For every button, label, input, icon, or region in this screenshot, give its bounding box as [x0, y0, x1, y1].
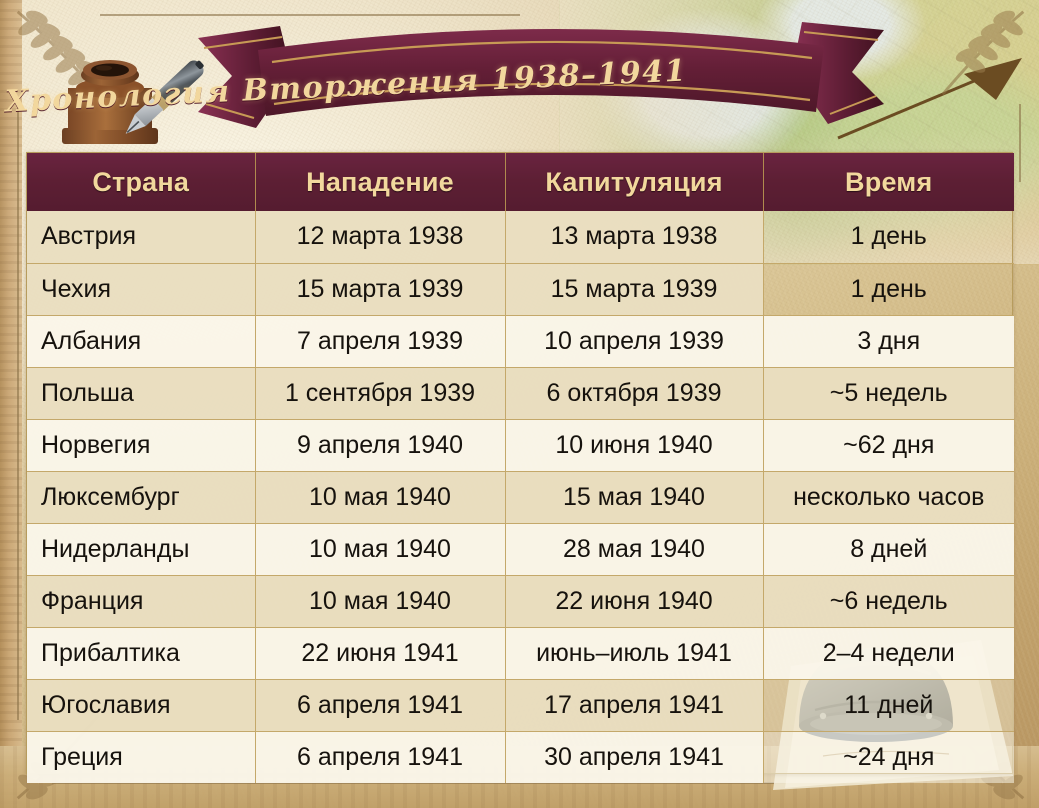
cell-attack: 9 апреля 1940	[255, 419, 505, 471]
cell-attack: 22 июня 1941	[255, 627, 505, 679]
cell-capitulation: 22 июня 1940	[505, 575, 763, 627]
laurel-branch-icon	[935, 6, 1031, 102]
cell-time: 1 день	[763, 211, 1014, 263]
cell-capitulation: 30 апреля 1941	[505, 731, 763, 783]
column-header-country[interactable]: Страна	[27, 153, 255, 211]
cell-country: Австрия	[27, 211, 255, 263]
table-row[interactable]: Албания 7 апреля 1939 10 апреля 1939 3 д…	[27, 315, 1014, 367]
cell-time: 8 дней	[763, 523, 1014, 575]
table-row[interactable]: Норвегия 9 апреля 1940 10 июня 1940 ~62 …	[27, 419, 1014, 471]
cell-country: Албания	[27, 315, 255, 367]
cell-time: ~5 недель	[763, 367, 1014, 419]
cell-country: Югославия	[27, 679, 255, 731]
frame-line-right	[1019, 104, 1021, 182]
chronology-table: Страна Нападение Капитуляция Время Австр…	[27, 153, 1014, 783]
cell-time: несколько часов	[763, 471, 1014, 523]
cell-capitulation: 6 октября 1939	[505, 367, 763, 419]
cell-country: Норвегия	[27, 419, 255, 471]
cell-time: 1 день	[763, 263, 1014, 315]
cell-country: Нидерланды	[27, 523, 255, 575]
column-header-time[interactable]: Время	[763, 153, 1014, 211]
table-row[interactable]: Нидерланды 10 мая 1940 28 мая 1940 8 дне…	[27, 523, 1014, 575]
table-row[interactable]: Люксембург 10 мая 1940 15 мая 1940 неско…	[27, 471, 1014, 523]
cell-attack: 6 апреля 1941	[255, 731, 505, 783]
cell-time: ~62 дня	[763, 419, 1014, 471]
cell-country: Польша	[27, 367, 255, 419]
frame-line-top	[100, 14, 520, 16]
cell-capitulation: 15 марта 1939	[505, 263, 763, 315]
table-body: Австрия 12 марта 1938 13 марта 1938 1 де…	[27, 211, 1014, 783]
table-row[interactable]: Чехия 15 марта 1939 15 марта 1939 1 день	[27, 263, 1014, 315]
cell-country: Чехия	[27, 263, 255, 315]
cell-country: Люксембург	[27, 471, 255, 523]
cell-capitulation: 10 июня 1940	[505, 419, 763, 471]
cell-attack: 12 марта 1938	[255, 211, 505, 263]
table-row[interactable]: Франция 10 мая 1940 22 июня 1940 ~6 неде…	[27, 575, 1014, 627]
cell-attack: 1 сентября 1939	[255, 367, 505, 419]
cell-attack: 15 марта 1939	[255, 263, 505, 315]
table-row[interactable]: Австрия 12 марта 1938 13 марта 1938 1 де…	[27, 211, 1014, 263]
frame-line-left	[17, 100, 19, 720]
cell-country: Франция	[27, 575, 255, 627]
cell-capitulation: 10 апреля 1939	[505, 315, 763, 367]
table-header: Страна Нападение Капитуляция Время	[27, 153, 1014, 211]
table-row[interactable]: Прибалтика 22 июня 1941 июнь–июль 1941 2…	[27, 627, 1014, 679]
poster-canvas: Хронология Вторжения 1938–1941	[0, 0, 1039, 808]
cell-capitulation: 17 апреля 1941	[505, 679, 763, 731]
cell-attack: 10 мая 1940	[255, 471, 505, 523]
table-row[interactable]: Польша 1 сентября 1939 6 октября 1939 ~5…	[27, 367, 1014, 419]
cell-time: ~24 дня	[763, 731, 1014, 783]
table-row[interactable]: Югославия 6 апреля 1941 17 апреля 1941 1…	[27, 679, 1014, 731]
cell-country: Греция	[27, 731, 255, 783]
table-row[interactable]: Греция 6 апреля 1941 30 апреля 1941 ~24 …	[27, 731, 1014, 783]
ribbon-banner	[196, 20, 886, 148]
chronology-table-container: Страна Нападение Капитуляция Время Австр…	[26, 152, 1013, 774]
column-header-capitulation[interactable]: Капитуляция	[505, 153, 763, 211]
cell-capitulation: 13 марта 1938	[505, 211, 763, 263]
cell-time: 11 дней	[763, 679, 1014, 731]
cell-capitulation: 15 мая 1940	[505, 471, 763, 523]
cell-attack: 7 апреля 1939	[255, 315, 505, 367]
cell-attack: 10 мая 1940	[255, 575, 505, 627]
cell-capitulation: 28 мая 1940	[505, 523, 763, 575]
cell-time: 3 дня	[763, 315, 1014, 367]
cell-attack: 10 мая 1940	[255, 523, 505, 575]
cell-time: ~6 недель	[763, 575, 1014, 627]
column-header-attack[interactable]: Нападение	[255, 153, 505, 211]
cell-attack: 6 апреля 1941	[255, 679, 505, 731]
cell-time: 2–4 недели	[763, 627, 1014, 679]
cell-capitulation: июнь–июль 1941	[505, 627, 763, 679]
cell-country: Прибалтика	[27, 627, 255, 679]
table-header-row: Страна Нападение Капитуляция Время	[27, 153, 1014, 211]
